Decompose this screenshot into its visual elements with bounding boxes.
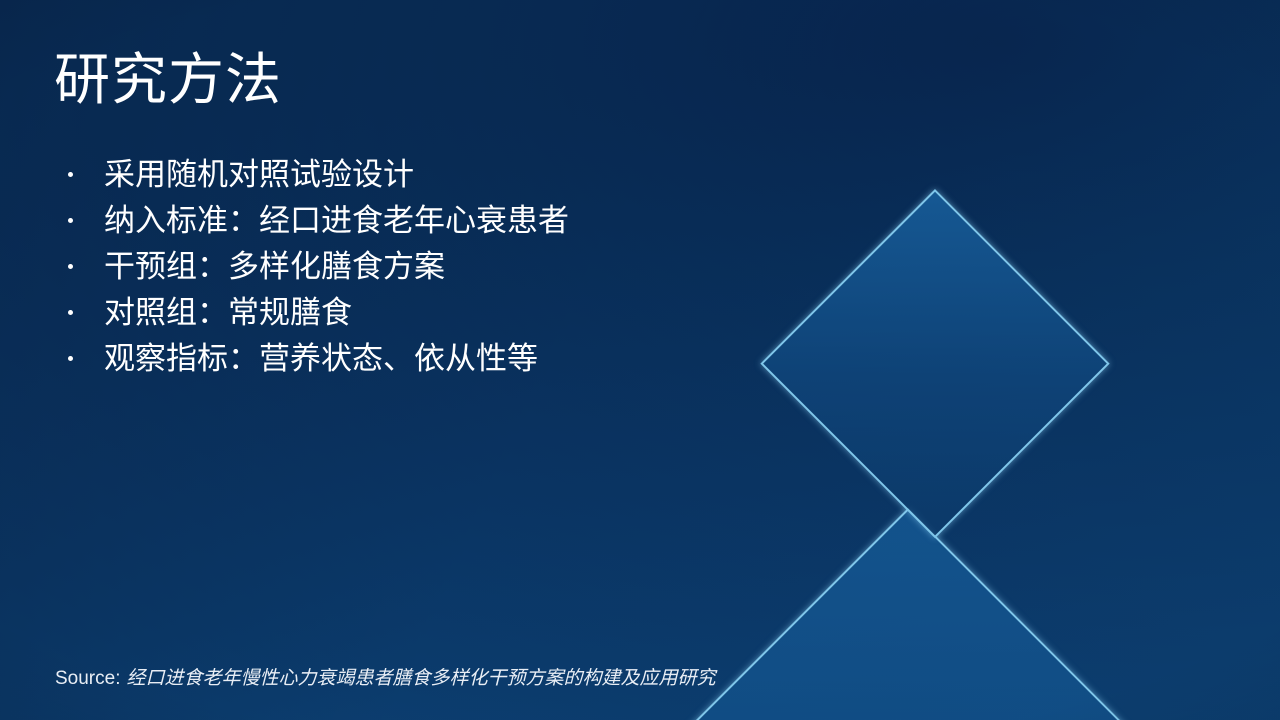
presentation-slide: 研究方法 采用随机对照试验设计 纳入标准：经口进食老年心衰患者 干预组：多样化膳…	[0, 0, 1280, 720]
page-title: 研究方法	[54, 48, 282, 113]
list-item-label: 干预组：多样化膳食方案	[104, 249, 445, 284]
bullet-list: 采用随机对照试验设计 纳入标准：经口进食老年心衰患者 干预组：多样化膳食方案 对…	[56, 152, 836, 382]
source-label: Source:	[55, 668, 120, 689]
list-item: 干预组：多样化膳食方案	[56, 244, 836, 290]
source-title: 经口进食老年慢性心力衰竭患者膳食多样化干预方案的构建及应用研究	[120, 668, 715, 689]
bullet-dot-icon	[68, 310, 73, 315]
list-item: 纳入标准：经口进食老年心衰患者	[56, 198, 836, 244]
bullet-dot-icon	[68, 172, 73, 177]
list-item-label: 对照组：常规膳食	[104, 295, 352, 330]
source-citation: Source:经口进食老年慢性心力衰竭患者膳食多样化干预方案的构建及应用研究	[55, 663, 716, 690]
slide-content: 研究方法 采用随机对照试验设计 纳入标准：经口进食老年心衰患者 干预组：多样化膳…	[0, 0, 1280, 720]
bullet-dot-icon	[68, 264, 73, 269]
bullet-dot-icon	[68, 356, 73, 361]
list-item: 对照组：常规膳食	[56, 290, 836, 336]
list-item-label: 观察指标：营养状态、依从性等	[104, 341, 538, 376]
bullet-dot-icon	[68, 218, 73, 223]
list-item: 采用随机对照试验设计	[56, 152, 836, 198]
list-item: 观察指标：营养状态、依从性等	[56, 336, 836, 382]
list-item-label: 采用随机对照试验设计	[104, 157, 414, 192]
list-item-label: 纳入标准：经口进食老年心衰患者	[104, 203, 569, 238]
